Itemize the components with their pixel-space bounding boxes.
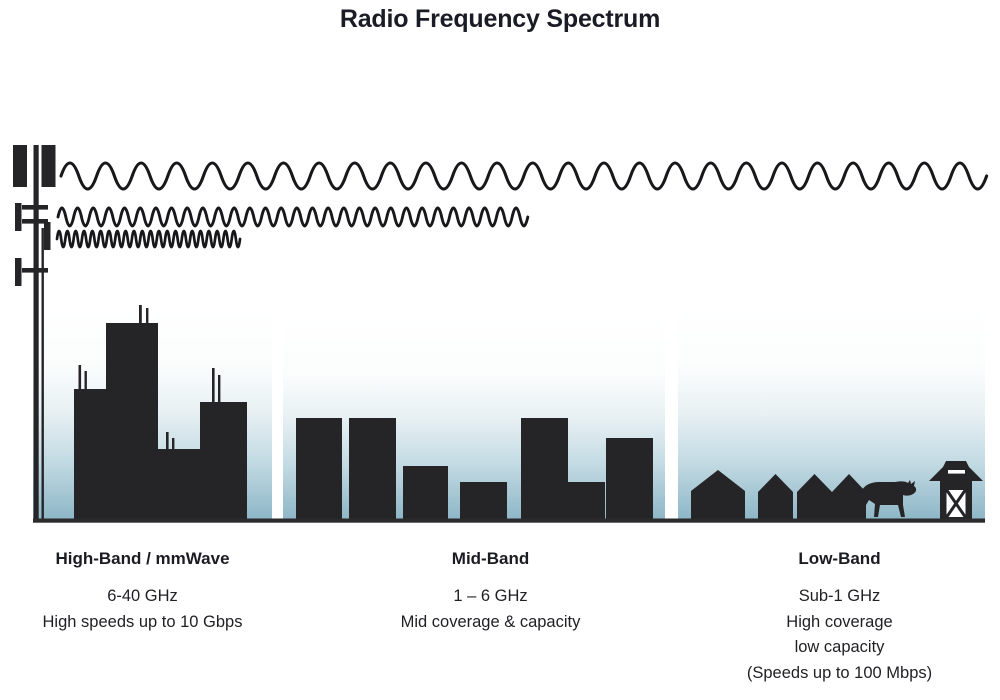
tower-crossarm-lower xyxy=(22,268,48,273)
antenna-panel-large-left xyxy=(13,145,27,187)
long-wavelength-wave xyxy=(61,163,987,189)
band-details-mid-band: 1 – 6 GHz Mid coverage & capacity xyxy=(348,584,633,635)
caption-mid-band: Mid-Band 1 – 6 GHz Mid coverage & capaci… xyxy=(348,547,633,635)
antenna-panel-bottom-left xyxy=(15,258,22,286)
tower-mast xyxy=(34,145,39,520)
caption-low-band: Low-Band Sub-1 GHz High coverage low cap… xyxy=(697,547,982,686)
building-mid-5 xyxy=(521,418,568,520)
band-title-mid-band: Mid-Band xyxy=(348,547,633,571)
band-line: (Speeds up to 100 Mbps) xyxy=(697,661,982,687)
band-details-high-band: 6-40 GHz High speeds up to 10 Gbps xyxy=(0,584,285,635)
band-title-high-band: High-Band / mmWave xyxy=(0,547,285,571)
band-line: High coverage xyxy=(697,610,982,636)
infographic-root: Radio Frequency Spectrum xyxy=(0,0,1000,700)
building-mid-6 xyxy=(568,482,605,520)
antenna-panel-large-right xyxy=(42,145,56,187)
band-line: Mid coverage & capacity xyxy=(348,610,633,636)
short-wavelength-wave xyxy=(57,231,240,247)
building-mid-3 xyxy=(403,466,448,520)
antenna-panel-small-left xyxy=(15,203,22,231)
building-mid-7 xyxy=(606,438,653,520)
band-title-low-band: Low-Band xyxy=(697,547,982,571)
band-line: 6-40 GHz xyxy=(0,584,285,610)
caption-high-band: High-Band / mmWave 6-40 GHz High speeds … xyxy=(0,547,285,635)
band-details-low-band: Sub-1 GHz High coverage low capacity (Sp… xyxy=(697,584,982,686)
wave-group xyxy=(57,163,987,247)
band-line: High speeds up to 10 Gbps xyxy=(0,610,285,636)
building-high-3 xyxy=(158,449,200,520)
ground-line xyxy=(33,519,985,523)
medium-wavelength-wave xyxy=(58,208,528,226)
band-line: Sub-1 GHz xyxy=(697,584,982,610)
tower-crossarm-upper xyxy=(22,205,48,210)
building-high-4 xyxy=(200,402,247,520)
band-line: low capacity xyxy=(697,635,982,661)
building-high-1 xyxy=(74,389,106,520)
band-line: 1 – 6 GHz xyxy=(348,584,633,610)
building-mid-1 xyxy=(296,418,342,520)
building-high-2 xyxy=(106,323,158,520)
antenna-panel-small-right xyxy=(44,222,51,250)
building-mid-2 xyxy=(349,418,396,520)
building-mid-4 xyxy=(460,482,507,520)
